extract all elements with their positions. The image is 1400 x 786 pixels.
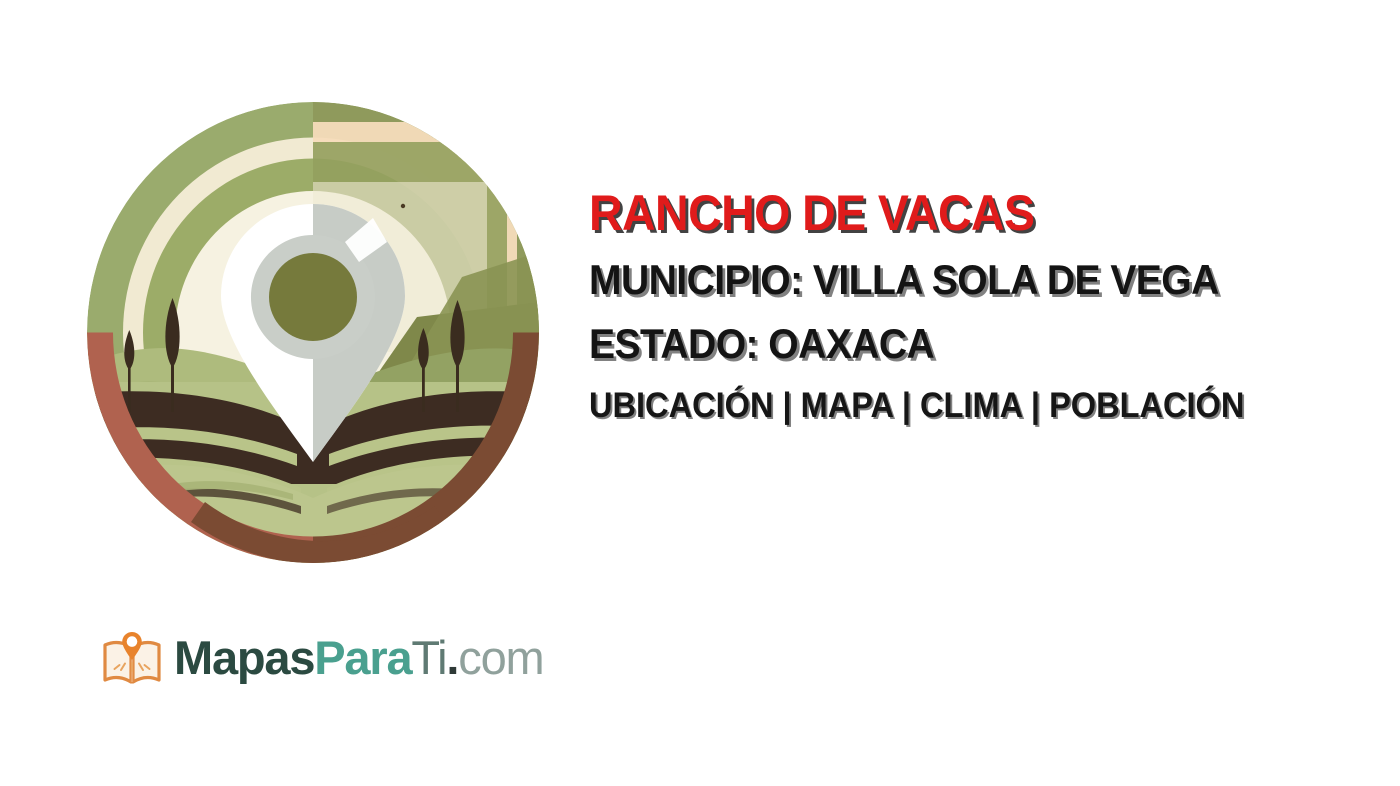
info-text-block: RANCHO DE VACAS MUNICIPIO: VILLA SOLA DE… [589,178,1389,436]
brand-part-mapas: Mapas [174,631,314,684]
brand-part-com: com [458,631,543,684]
emblem-speck [401,204,405,208]
brand-part-dot: . [446,631,458,684]
place-title: RANCHO DE VACAS [589,178,1333,248]
section-nav-line[interactable]: UBICACIÓN | MAPA | CLIMA | POBLACIÓN [589,376,1333,436]
brand-part-ti: Ti [411,631,446,684]
poster-canvas: RANCHO DE VACAS MUNICIPIO: VILLA SOLA DE… [0,0,1400,786]
municipio-line: MUNICIPIO: VILLA SOLA DE VEGA [589,248,1333,312]
site-logo[interactable]: MapasParaTi.com [100,622,543,694]
estado-line: ESTADO: OAXACA [589,312,1333,376]
brand-part-para: Para [314,631,411,684]
circular-landscape-emblem [87,102,539,563]
open-book-with-map-pin-icon [100,626,164,690]
brand-wordmark: MapasParaTi.com [174,632,543,684]
